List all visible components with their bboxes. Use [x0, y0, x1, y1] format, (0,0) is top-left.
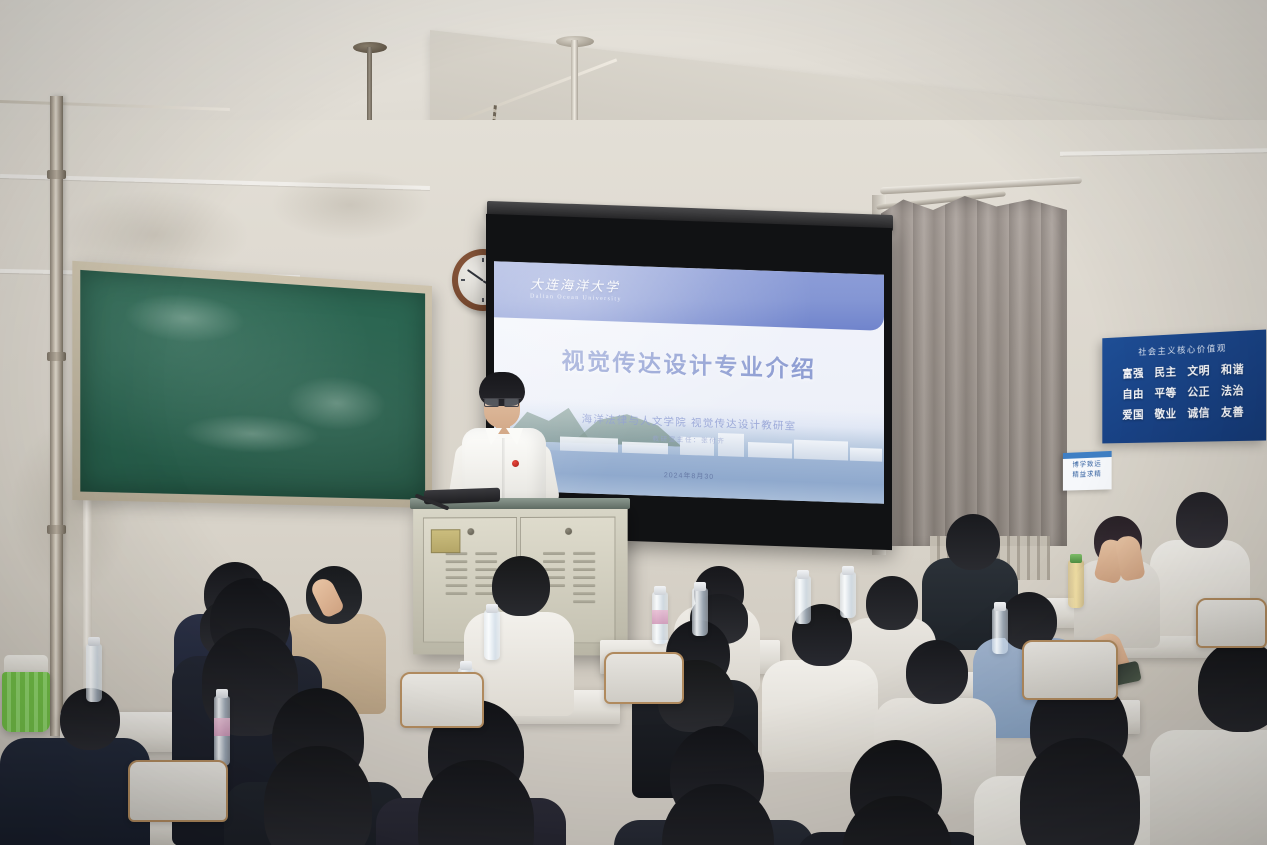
bottle-cap: [1070, 554, 1082, 563]
core-value-term: 友善: [1221, 403, 1244, 420]
small-sign-line-2: 精益求精: [1063, 469, 1112, 481]
core-value-term: 法治: [1221, 382, 1244, 399]
pipe-joint-3: [47, 525, 66, 534]
pipe-joint-1: [47, 170, 66, 179]
clock-tick-9: [461, 279, 465, 281]
glasses-lens-left: [484, 398, 499, 407]
cabinet-vent: [543, 552, 565, 555]
cabinet-vent: [573, 592, 595, 595]
presenter-badge-pin: [512, 460, 519, 467]
water-bottle[interactable]: [484, 610, 500, 660]
bottle-label: [214, 718, 230, 736]
cabinet-lock-right[interactable]: [565, 528, 572, 535]
blackboard-surface: [80, 270, 425, 500]
audience-body: [1150, 730, 1267, 845]
core-value-term: 平等: [1154, 384, 1176, 401]
cabinet-vent: [446, 560, 468, 563]
bottle-cap: [460, 661, 472, 670]
clock-minute-hand: [467, 269, 484, 281]
water-bottle[interactable]: [795, 576, 811, 624]
pipe-joint-2: [47, 352, 66, 361]
core-values-row-2: 自由 平等 公正 法治: [1110, 381, 1258, 402]
cabinet-vent: [446, 576, 468, 579]
core-value-term: 诚信: [1187, 404, 1210, 421]
bottle-cap: [842, 566, 854, 575]
core-value-term: 爱国: [1122, 406, 1144, 422]
core-value-term: 自由: [1122, 385, 1144, 401]
water-bottle[interactable]: [86, 644, 102, 702]
core-values-row-1: 富强 民主 文明 和谐: [1110, 360, 1258, 382]
wall-pipe: [50, 96, 63, 736]
audience-head: [946, 514, 1000, 570]
core-values-poster: 社会主义核心价值观 富强 民主 文明 和谐 自由 平等 公正 法治 爱国 敬业 …: [1102, 329, 1266, 443]
audience-head: [906, 640, 968, 704]
cabinet-vent: [475, 552, 497, 555]
core-value-term: 公正: [1187, 383, 1210, 400]
bottle-cap: [216, 689, 228, 698]
clock-tick-6: [482, 298, 484, 302]
core-values-title: 社会主义核心价值观: [1110, 340, 1258, 359]
drink-bottle-tea[interactable]: [1068, 560, 1084, 608]
chair-back: [1022, 640, 1118, 700]
cabinet-vent: [573, 560, 595, 563]
cabinet-side-plate: [431, 529, 461, 553]
chair-back: [128, 760, 228, 822]
core-value-term: 富强: [1122, 365, 1144, 382]
audience-body: [762, 660, 878, 772]
small-wall-sign: 博学致远 精益求精: [1063, 451, 1112, 491]
cabinet-vent: [446, 568, 468, 571]
cabinet-vent: [475, 568, 497, 571]
cabinet-vent: [475, 560, 497, 563]
university-logo-cn: 大连海洋大学: [530, 273, 620, 295]
cabinet-vent: [573, 600, 595, 603]
audience-head: [492, 556, 550, 616]
bottle-cap: [486, 604, 498, 613]
bottle-cap: [994, 602, 1006, 611]
audience-head: [866, 576, 918, 630]
chair-back: [1196, 598, 1267, 648]
bottle-cap: [654, 586, 666, 595]
core-value-term: 文明: [1187, 362, 1210, 379]
audience-hair: [264, 746, 372, 845]
clock-tick-12: [482, 258, 484, 262]
audience-head: [1176, 492, 1228, 548]
glasses-lens-right: [504, 398, 519, 407]
cabinet-lock-left[interactable]: [467, 528, 474, 535]
water-bottle[interactable]: [840, 572, 856, 618]
core-values-row-3: 爱国 敬业 诚信 友善: [1110, 403, 1258, 423]
bottle-cap: [88, 637, 100, 646]
chair-back: [604, 652, 684, 704]
water-bottle[interactable]: [692, 588, 708, 636]
waste-basket: [2, 672, 50, 732]
blackboard-frame: [72, 261, 432, 508]
bottle-cap: [694, 582, 706, 591]
cabinet-vent: [543, 560, 565, 563]
bottle-cap: [797, 570, 809, 579]
bottle-label: [652, 610, 668, 624]
core-value-term: 敬业: [1154, 405, 1176, 422]
core-value-term: 和谐: [1221, 360, 1244, 377]
cabinet-vent: [573, 576, 595, 579]
window-curtain[interactable]: [881, 196, 1067, 546]
cabinet-vent: [573, 552, 595, 555]
core-value-term: 民主: [1154, 363, 1176, 380]
cabinet-vent: [446, 584, 468, 587]
water-bottle[interactable]: [992, 608, 1008, 654]
cabinet-vent: [446, 592, 468, 595]
cabinet-vent: [573, 568, 595, 571]
cabinet-vent: [573, 584, 595, 587]
classroom-photo-scene: 社会主义核心价值观 富强 民主 文明 和谐 自由 平等 公正 法治 爱国 敬业 …: [0, 0, 1267, 845]
chalk-smudge-1: [124, 290, 245, 345]
chair-back: [400, 672, 484, 728]
